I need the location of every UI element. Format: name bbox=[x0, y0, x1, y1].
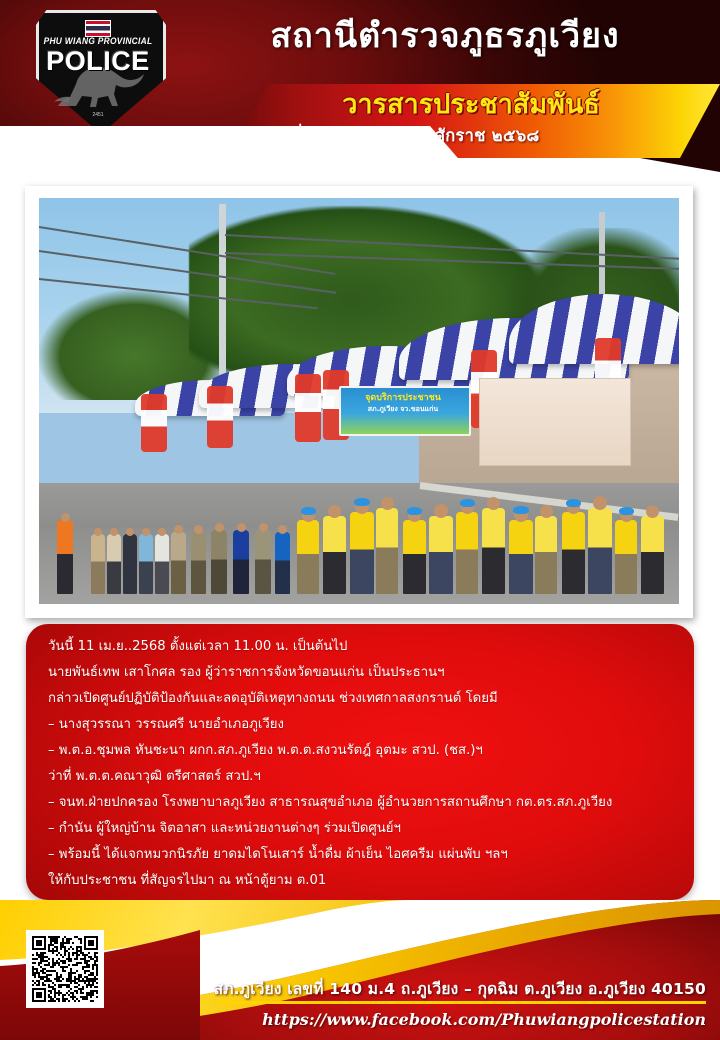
photo-person bbox=[350, 512, 374, 594]
badge-police-text: POLICE bbox=[36, 46, 160, 77]
announcement-line: – พ.ต.อ.ชุมพล หันชะนา ผกก.สภ.ภูเวียง พ.ต… bbox=[48, 738, 684, 764]
qr-code[interactable] bbox=[26, 930, 104, 1008]
photo-person-cap bbox=[619, 507, 634, 515]
photo-person-head bbox=[237, 523, 246, 532]
photo-person bbox=[562, 512, 585, 594]
badge-arc-text: PHU WIANG PROVINCIAL bbox=[36, 36, 160, 47]
photo-person-cap bbox=[301, 507, 316, 515]
photo-person bbox=[171, 532, 186, 594]
event-photo: จุดบริการประชาชน สภ.ภูเวียง จว.ขอนแก่น bbox=[39, 198, 679, 604]
photo-person-head bbox=[259, 523, 268, 532]
photo-person-head bbox=[540, 505, 553, 518]
footer-divider bbox=[218, 1001, 706, 1004]
qr-code-icon bbox=[32, 936, 98, 1002]
photo-person bbox=[509, 520, 533, 594]
photo-person-head bbox=[142, 528, 150, 536]
photo-person-head bbox=[434, 504, 448, 518]
photo-person-head bbox=[110, 528, 118, 536]
police-badge-logo: PHU WIANG PROVINCIAL POLICE 2451 PHUWIAN… bbox=[22, 8, 182, 138]
photo-person-head bbox=[126, 528, 134, 536]
photo-person bbox=[535, 516, 557, 594]
photo-person bbox=[588, 508, 612, 594]
photo-person bbox=[456, 512, 478, 594]
announcement-line: – กำนัน ผู้ใหญ่บ้าน จิตอาสา และหน่วยงานต… bbox=[48, 816, 684, 842]
photo-person-head bbox=[381, 497, 394, 510]
photo-person bbox=[482, 508, 505, 594]
announcement-line: ให้กับประชาชน ที่สัญจรไปมา ณ หน้าตู้ยาม … bbox=[48, 868, 684, 894]
announcement-line: – จนท.ฝ่ายปกครอง โรงพยาบาลภูเวียง สาธารณ… bbox=[48, 790, 684, 816]
header-diagonal-cut-2 bbox=[0, 158, 720, 172]
photo-person-cap bbox=[566, 499, 581, 507]
photo-sign-line2: สภ.ภูเวียง จว.ขอนแก่น bbox=[342, 404, 464, 415]
photo-fabric-drape bbox=[295, 374, 321, 442]
photo-fabric-drape bbox=[207, 386, 233, 448]
photo-person bbox=[275, 532, 290, 594]
photo-person-cap bbox=[407, 507, 422, 515]
photo-person-head bbox=[61, 513, 70, 522]
photo-sign-line1: จุดบริการประชาชน bbox=[342, 390, 464, 404]
announcement-line: นายพันธ์เทพ เสาโกศล รอง ผู้ว่าราชการจังห… bbox=[48, 660, 684, 686]
photo-person-head bbox=[215, 523, 224, 532]
photo-person-head bbox=[487, 497, 500, 510]
photo-person-cap bbox=[460, 499, 475, 507]
photo-fabric-drape bbox=[141, 394, 167, 452]
announcement-body: วันนี้ 11 เม.ย..2568 ตั้งแต่เวลา 11.00 น… bbox=[48, 634, 684, 894]
photo-person bbox=[255, 530, 271, 594]
photo-person bbox=[641, 516, 664, 594]
photo-person bbox=[376, 508, 398, 594]
photo-person bbox=[155, 534, 169, 594]
page-title: สถานีตำรวจภูธรภูเวียง bbox=[180, 14, 710, 58]
photo-person bbox=[323, 516, 346, 594]
photo-person-head bbox=[328, 505, 341, 518]
photo-person-head bbox=[194, 525, 203, 534]
photo-person-head bbox=[278, 525, 287, 534]
ribbon-title: วารสารประชาสัมพันธ์ bbox=[236, 88, 706, 122]
photo-person bbox=[403, 520, 426, 594]
photo-person bbox=[191, 532, 206, 594]
badge-year-text: 2451 bbox=[36, 112, 160, 118]
photo-person-head bbox=[593, 496, 607, 510]
announcement-line: กล่าวเปิดศูนย์ปฏิบัติป้องกันและลดอุบัติเ… bbox=[48, 686, 684, 712]
photo-person bbox=[615, 520, 637, 594]
photo-person-cap bbox=[513, 506, 529, 514]
announcement-line: ว่าที่ พ.ต.ต.คณาวุฒิ ตรีศาสตร์ สวป.ฯ bbox=[48, 764, 684, 790]
photo-person-head bbox=[94, 528, 102, 536]
announcement-card: วันนี้ 11 เม.ย..2568 ตั้งแต่เวลา 11.00 น… bbox=[26, 624, 694, 900]
announcement-line: วันนี้ 11 เม.ย..2568 ตั้งแต่เวลา 11.00 น… bbox=[48, 634, 684, 660]
photo-person bbox=[297, 520, 319, 594]
photo-person-head bbox=[646, 505, 659, 518]
photo-person-head bbox=[174, 525, 183, 534]
page-header: PHU WIANG PROVINCIAL POLICE 2451 PHUWIAN… bbox=[0, 0, 720, 172]
footer-address: สภ.ภูเวียง เลขที่ 140 ม.4 ถ.ภูเวียง – กุ… bbox=[150, 978, 706, 1000]
photo-person bbox=[429, 516, 453, 594]
photo-person bbox=[91, 534, 105, 594]
announcement-line: – พร้อมนี้ ได้แจกหมวกนิรภัย ยาดมไดโนเสาร… bbox=[48, 842, 684, 868]
announcement-line: – นางสุวรรณา วรรณศรี นายอำเภอภูเวียง bbox=[48, 712, 684, 738]
photo-person bbox=[139, 534, 153, 594]
footer-facebook-url[interactable]: https://www.facebook.com/Phuwiangpolices… bbox=[150, 1008, 706, 1032]
photo-person bbox=[233, 530, 249, 594]
photo-person bbox=[107, 534, 121, 594]
photo-person-cap bbox=[354, 498, 370, 506]
newsletter-page: PHU WIANG PROVINCIAL POLICE 2451 PHUWIAN… bbox=[0, 0, 720, 1040]
thai-flag-icon bbox=[85, 20, 111, 37]
photo-backdrop-banner bbox=[479, 378, 631, 466]
photo-person bbox=[211, 530, 227, 594]
photo-person bbox=[57, 520, 73, 594]
photo-person bbox=[123, 534, 137, 594]
photo-person-head bbox=[158, 528, 166, 536]
photo-frame: จุดบริการประชาชน สภ.ภูเวียง จว.ขอนแก่น bbox=[25, 186, 693, 618]
